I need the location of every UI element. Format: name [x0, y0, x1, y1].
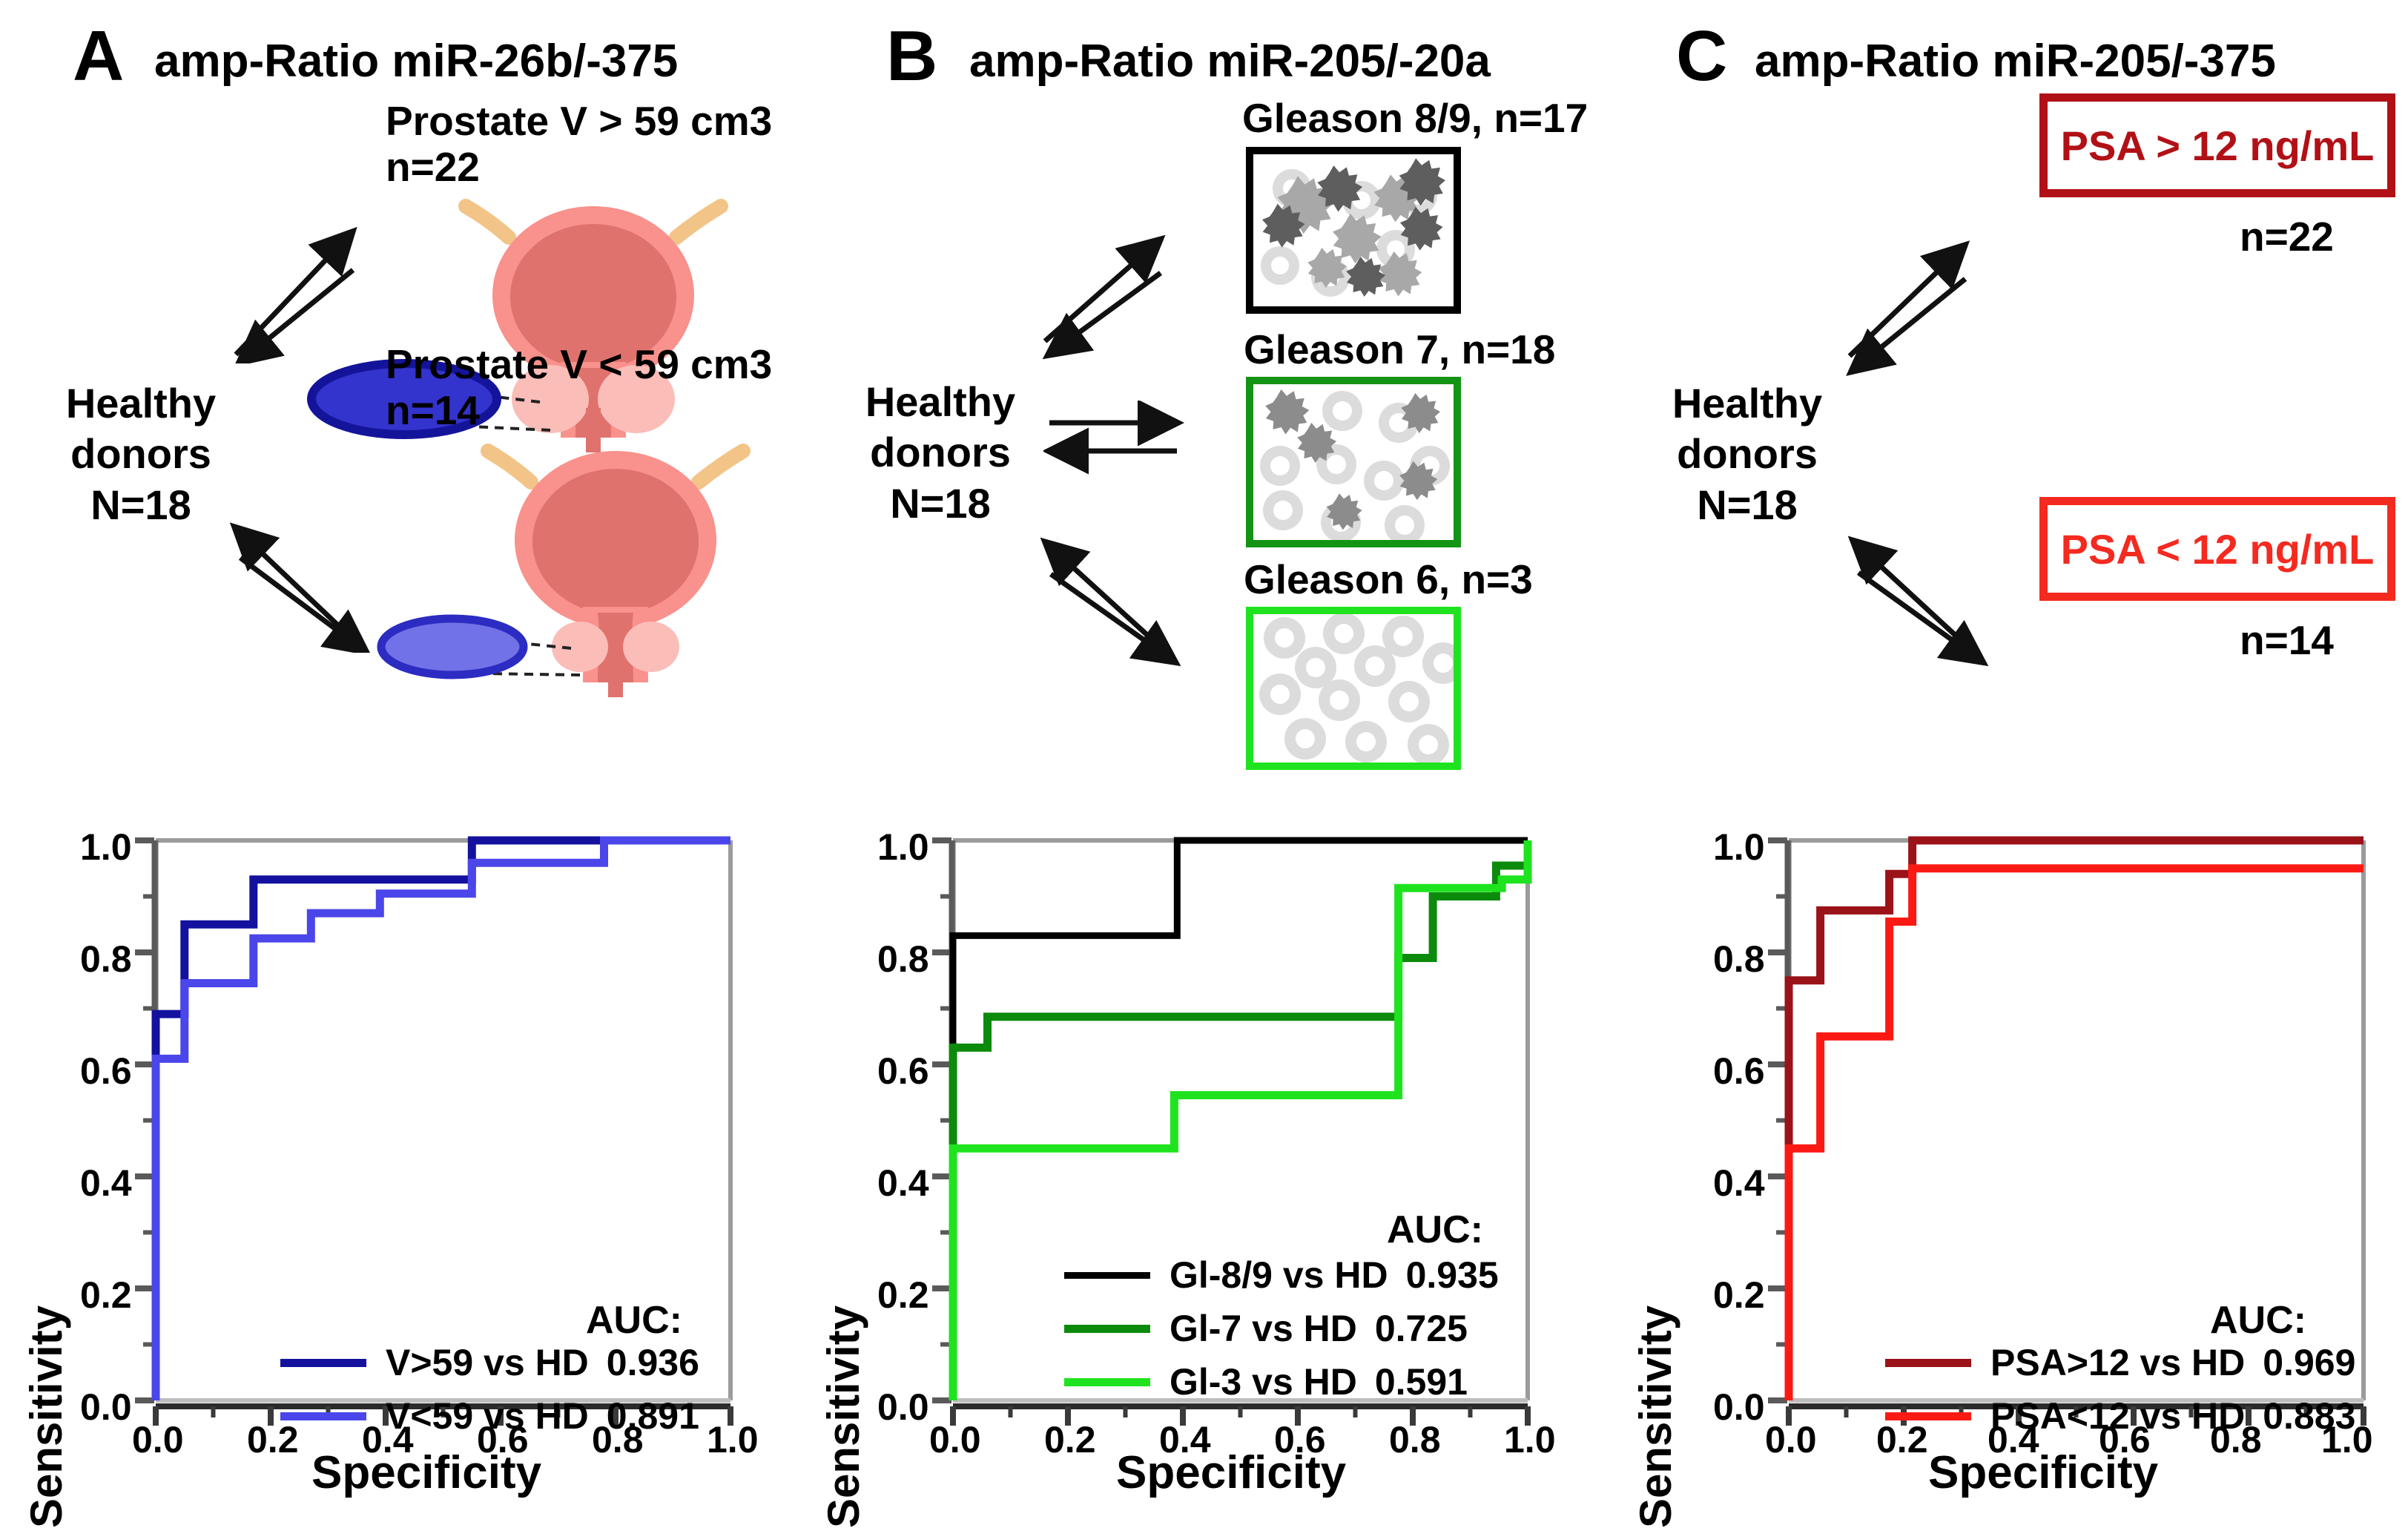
panel-letter-a: A [73, 21, 123, 92]
panel-letter-c: C [1676, 21, 1726, 92]
psa-high-label: PSA > 12 ng/mL [2061, 122, 2375, 170]
psa-low-label: PSA < 12 ng/mL [2061, 525, 2375, 573]
legend-auc-a-1: 0.891 [607, 1394, 699, 1438]
panel-c: C amp-Ratio miR-205/-375 Healthy donors … [1609, 0, 2408, 1528]
psa-high-n: n=22 [2240, 217, 2334, 257]
tissue-grade-mid-icon [1246, 377, 1461, 547]
group-label-prostate-small: Prostate V < 59 cm3 [386, 340, 772, 389]
legend-auc-a-0: 0.936 [607, 1341, 699, 1384]
hd-line-1: Healthy [30, 378, 252, 429]
hd-line-2-b: donors [825, 427, 1055, 478]
legend-auc-c-1: 0.883 [2263, 1394, 2355, 1438]
schematic-prostate-volume: Healthy donors N=18 Prostate V > 59 cm3 … [0, 104, 805, 786]
legend-swatch-b-0 [1064, 1272, 1150, 1279]
legend-label-b-2: Gl-3 vs HD [1170, 1360, 1357, 1403]
healthy-donors-label-b: Healthy donors N=18 [825, 377, 1055, 529]
legend-label-a-1: V<59 vs HD [386, 1394, 589, 1438]
legend-row-a-0[interactable]: V>59 vs HD 0.936 [280, 1341, 699, 1384]
healthy-donors-label-c: Healthy donors N=18 [1636, 378, 1858, 530]
legend-row-a-1[interactable]: V<59 vs HD 0.891 [280, 1394, 699, 1438]
roc-canvas-b [805, 786, 1609, 1528]
legend-row-b-1[interactable]: Gl-7 vs HD 0.725 [1064, 1307, 1468, 1350]
group-label-gleason-7: Gleason 7, n=18 [1244, 325, 1555, 374]
schematic-psa-threshold: Healthy donors N=18 PSA > 12 ng/mL n=22 … [1609, 104, 2408, 786]
group-n-prostate-small: n=14 [386, 390, 480, 431]
double-arrow-down-icon [222, 504, 378, 653]
hd-line-2: donors [30, 429, 252, 479]
group-n-prostate-large: n=22 [386, 147, 480, 188]
legend-label-c-0: PSA>12 vs HD [1990, 1341, 2245, 1384]
roc-plot-a: Sensitivity Specificity 1.0 0.8 0.6 0.4 … [0, 786, 805, 1528]
double-arrow-up-icon-b [1035, 230, 1183, 363]
legend-label-c-1: PSA<12 vs HD [1990, 1394, 2245, 1438]
roc-plot-c: Sensitivity Specificity 1.0 0.8 0.6 0.4 … [1609, 786, 2408, 1528]
legend-label-b-0: Gl-8/9 vs HD [1170, 1254, 1388, 1297]
legend-swatch-a-0 [280, 1359, 366, 1367]
group-label-gleason-6: Gleason 6, n=3 [1244, 555, 1533, 604]
legend-row-b-2[interactable]: Gl-3 vs HD 0.591 [1064, 1360, 1468, 1403]
panel-title-a: amp-Ratio miR-26b/-375 [154, 39, 678, 85]
legend-auc-b-0: 0.935 [1406, 1254, 1499, 1297]
hd-line-3-c: N=18 [1636, 480, 1858, 530]
legend-row-c-1[interactable]: PSA<12 vs HD 0.883 [1885, 1394, 2355, 1438]
hd-line-3: N=18 [30, 480, 252, 530]
double-arrow-right-icon-b [1043, 401, 1192, 475]
callout-ellipse-small-icon [371, 608, 534, 685]
healthy-donors-label: Healthy donors N=18 [30, 378, 252, 530]
hd-line-3-b: N=18 [825, 478, 1055, 529]
psa-high-box[interactable]: PSA > 12 ng/mL [2039, 93, 2395, 197]
psa-low-box[interactable]: PSA < 12 ng/mL [2039, 497, 2395, 601]
panel-a: A amp-Ratio miR-26b/-375 Healthy donors … [0, 0, 805, 1528]
tissue-grade-high-icon [1246, 147, 1461, 314]
auc-header-a: AUC: [586, 1298, 682, 1343]
double-arrow-up-icon [222, 223, 371, 363]
legend-swatch-b-1 [1064, 1325, 1150, 1333]
auc-header-b: AUC: [1387, 1208, 1483, 1252]
double-arrow-up-icon-c [1839, 237, 1988, 378]
legend-label-a-0: V>59 vs HD [386, 1341, 589, 1384]
panel-title-b: amp-Ratio miR-205/-20a [969, 39, 1491, 85]
legend-auc-b-1: 0.725 [1375, 1307, 1468, 1350]
legend-swatch-c-1 [1885, 1412, 1971, 1420]
double-arrow-down-icon-b [1035, 527, 1190, 668]
panel-b: B amp-Ratio miR-205/-20a Healthy donors … [805, 0, 1609, 1528]
legend-swatch-b-2 [1064, 1378, 1150, 1386]
double-arrow-down-icon-c [1842, 527, 1998, 668]
auc-header-c: AUC: [2210, 1298, 2306, 1343]
roc-plot-b: Sensitivity Specificity 1.0 0.8 0.6 0.4 … [805, 786, 1609, 1528]
hd-line-2-c: donors [1636, 429, 1858, 479]
legend-auc-b-2: 0.591 [1375, 1360, 1468, 1403]
group-label-gleason-89: Gleason 8/9, n=17 [1242, 93, 1588, 142]
legend-auc-c-0: 0.969 [2263, 1341, 2355, 1384]
legend-swatch-c-0 [1885, 1359, 1971, 1367]
legend-row-b-0[interactable]: Gl-8/9 vs HD 0.935 [1064, 1254, 1499, 1297]
panel-letter-b: B [886, 21, 937, 92]
panel-title-c: amp-Ratio miR-205/-375 [1755, 39, 2276, 85]
psa-low-n: n=14 [2240, 620, 2334, 661]
legend-swatch-a-1 [280, 1412, 366, 1420]
group-label-prostate-large: Prostate V > 59 cm3 [386, 96, 772, 145]
hd-line-1-c: Healthy [1636, 378, 1858, 429]
legend-row-c-0[interactable]: PSA>12 vs HD 0.969 [1885, 1341, 2355, 1384]
schematic-gleason-grade: Healthy donors N=18 Gleason 8/9, n=17 [805, 104, 1609, 786]
tissue-grade-low-icon [1246, 607, 1461, 770]
hd-line-1-b: Healthy [825, 377, 1055, 427]
legend-label-b-1: Gl-7 vs HD [1170, 1307, 1357, 1350]
